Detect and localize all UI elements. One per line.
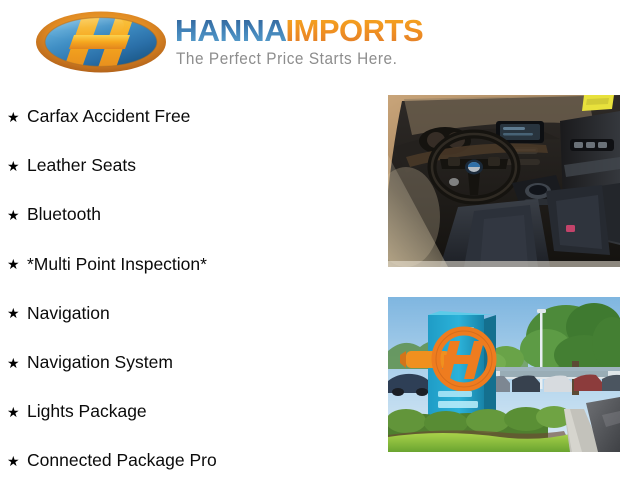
feature-label: Connected Package Pro: [27, 451, 217, 470]
dealership-sign-photo: [388, 297, 620, 452]
feature-label: Lights Package: [27, 402, 147, 421]
feature-label: Navigation System: [27, 353, 173, 372]
list-item: ★ Navigation System: [0, 338, 380, 387]
feature-label: Bluetooth: [27, 205, 101, 224]
feature-label: Navigation: [27, 304, 110, 323]
list-item: ★ Bluetooth: [0, 190, 380, 239]
feature-label: Leather Seats: [27, 156, 136, 175]
list-item: ★ Navigation: [0, 289, 380, 338]
hanna-oval-h-logo-icon: [34, 11, 168, 73]
list-item: ★ *Multi Point Inspection*: [0, 240, 380, 289]
brand-wordmark: HANNAIMPORTS The Perfect Price Starts He…: [176, 14, 516, 76]
vehicle-interior-photo: [388, 95, 620, 267]
star-icon: ★: [7, 159, 27, 173]
wordmark-imports: IMPORTS: [285, 14, 423, 47]
star-icon: ★: [7, 356, 27, 370]
star-icon: ★: [7, 306, 27, 320]
feature-label: *Multi Point Inspection*: [27, 255, 207, 274]
star-icon: ★: [7, 110, 27, 124]
list-item: ★ Lights Package: [0, 387, 380, 436]
wordmark-line: HANNAIMPORTS: [176, 14, 516, 47]
star-icon: ★: [7, 454, 27, 468]
star-icon: ★: [7, 208, 27, 222]
star-icon: ★: [7, 257, 27, 271]
feature-label: Carfax Accident Free: [27, 107, 190, 126]
brand-header: HANNAIMPORTS The Perfect Price Starts He…: [0, 0, 640, 88]
star-icon: ★: [7, 405, 27, 419]
wordmark-hanna: HANNA: [175, 14, 287, 47]
list-item: ★ Leather Seats: [0, 141, 380, 190]
list-item: ★ Carfax Accident Free: [0, 92, 380, 141]
vehicle-features-list: ★ Carfax Accident Free ★ Leather Seats ★…: [0, 92, 380, 486]
list-item: ★ Connected Package Pro: [0, 436, 380, 485]
brand-tagline: The Perfect Price Starts Here.: [176, 50, 492, 69]
